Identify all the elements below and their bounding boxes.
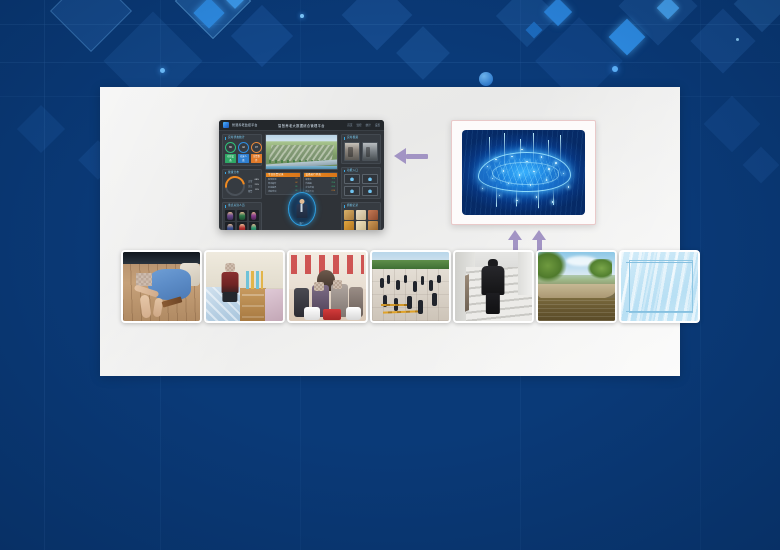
kpi-card: 实时状态统计 86 在线设备 42 在床人数 07 (222, 134, 262, 166)
device-value: 256 (332, 182, 335, 185)
health-donut-chart (221, 172, 249, 200)
function-icons-heading: 功能入口 (344, 170, 378, 173)
watchlist-person-thumb[interactable] (225, 210, 235, 221)
device-value: 094 (332, 186, 335, 189)
donut-legend-value-2: 11% (255, 189, 259, 193)
dashboard-menu-item-0[interactable]: 首页 (347, 123, 352, 127)
kpi-gauge-2-value: 07 (251, 142, 262, 153)
watchlist-person-thumb[interactable] (237, 222, 247, 230)
watchlist-grid (225, 210, 259, 230)
content-panel: 智慧养老监控平台 智慧养老大数据综合管理平台 首页 监控 统计 设置 实时状态统… (100, 87, 680, 376)
photo-fall-detection[interactable]: Caregiver assisting person who fell on f… (121, 250, 202, 323)
snapshot-card: 抓拍记录 (341, 202, 381, 230)
kpi-gauge-0-value: 86 (225, 142, 236, 153)
dashboard-titlebar: 智慧养老监控平台 智慧养老大数据综合管理平台 首页 监控 统计 设置 (219, 120, 384, 131)
health-donut-heading: 健康分布 (225, 172, 259, 175)
snapshot-thumb[interactable] (344, 221, 354, 230)
watchlist-person-thumb[interactable] (249, 210, 259, 221)
table-row: 离床超时02 (268, 182, 298, 185)
avatar-label: 张** (300, 221, 304, 225)
device-label: 传感器 (306, 182, 312, 185)
kpi-gauge-1[interactable]: 42 在床人数 (238, 142, 249, 163)
dashboard-body: 实时状态统计 86 在线设备 42 在床人数 07 (219, 131, 384, 230)
function-icon-grid (344, 174, 378, 196)
snapshot-grid (344, 210, 378, 230)
photo-stairs-walking[interactable]: Man in dark coat descending a staircase (453, 250, 534, 323)
health-donut-card: 健康分布 正常68% 关注21% 预警11% (222, 169, 262, 200)
dashboard-menu-item-2[interactable]: 统计 (366, 123, 371, 127)
dashboard-title: 智慧养老大数据综合管理平台 (278, 123, 325, 128)
function-icon[interactable] (362, 174, 378, 184)
function-icon[interactable] (344, 174, 360, 184)
brain-nodes (462, 130, 585, 215)
campus-3d-scene[interactable]: 园区三维实景 (265, 134, 338, 170)
donut-legend-label-0: 正常 (248, 179, 252, 183)
alert-label: 求助呼叫 (268, 190, 276, 193)
dashboard-menu-item-3[interactable]: 设置 (375, 123, 380, 127)
photo-activity-room[interactable]: Group activity in decorated common room (287, 250, 368, 323)
function-icon[interactable] (362, 186, 378, 196)
dashboard-left-column: 实时状态统计 86 在线设备 42 在床人数 07 (222, 134, 262, 227)
donut-legend-label-1: 关注 (248, 184, 252, 188)
function-icons-card: 功能入口 (341, 167, 381, 200)
watchlist-card: 重点关注人员 (222, 202, 262, 230)
blurred-face (314, 282, 323, 291)
alert-value: 02 (295, 182, 297, 185)
blurred-face (225, 263, 235, 272)
camera-grid (344, 142, 378, 161)
table-row: 跌倒检测03 (268, 178, 298, 181)
camera-heading: 实时视频 (344, 137, 378, 140)
dashboard-center-column: 园区三维实景 今日告警记录 跌倒检测03 离床超时02 区域越界01 求助呼叫0… (265, 134, 338, 227)
dashboard-right-column: 实时视频 功能入口 (341, 134, 381, 227)
table-row: 传感器256 (306, 182, 336, 185)
photo-bedroom-care[interactable]: Elderly man seated on bed in dormitory r… (204, 250, 285, 323)
avatar-area: 张** (265, 197, 338, 227)
watchlist-person-thumb[interactable] (237, 210, 247, 221)
donut-legend-value-1: 21% (255, 184, 259, 188)
dashboard-logo-icon (223, 122, 229, 128)
alert-label: 离床超时 (268, 182, 276, 185)
camera-card: 实时视频 (341, 134, 381, 164)
snapshot-thumb[interactable] (356, 221, 366, 230)
snapshot-thumb[interactable] (368, 221, 378, 230)
dashboard-screenshot[interactable]: 智慧养老监控平台 智慧养老大数据综合管理平台 首页 监控 统计 设置 实时状态统… (219, 120, 384, 230)
snapshot-thumb[interactable] (368, 210, 378, 220)
health-donut-legend: 正常68% 关注21% 预警11% (248, 179, 259, 193)
snapshot-thumb[interactable] (344, 210, 354, 220)
ai-brain-card[interactable] (451, 120, 596, 225)
table-row: 区域越界01 (268, 186, 298, 189)
dashboard-menu-item-1[interactable]: 监控 (356, 123, 361, 127)
avatar-figure-icon (295, 199, 308, 219)
slide-canvas: 智慧养老监控平台 智慧养老大数据综合管理平台 首页 监控 统计 设置 实时状态统… (0, 0, 780, 550)
photo-riverside-park[interactable]: Willow trees beside a park river (536, 250, 617, 323)
device-label: 定位终端 (306, 186, 314, 189)
kpi-gauges: 86 在线设备 42 在床人数 07 告警事件 (225, 142, 259, 163)
health-donut-row: 正常68% 关注21% 预警11% (225, 176, 259, 196)
device-value: 128 (332, 178, 335, 181)
kpi-gauge-1-value: 42 (238, 142, 249, 153)
scene-water (266, 166, 337, 169)
alert-value: 03 (295, 178, 297, 181)
kpi-card-heading: 实时状态统计 (225, 137, 259, 140)
kpi-gauge-0-label: 在线设备 (225, 154, 236, 163)
photo-abstract-blue[interactable]: Light blue abstract texture panel (619, 250, 700, 323)
up-arrow-icon-1 (508, 230, 522, 252)
alert-label: 跌倒检测 (268, 178, 276, 181)
scene-buildings (269, 145, 334, 161)
table-row: 定位终端094 (306, 186, 336, 189)
watchlist-person-thumb[interactable] (249, 222, 259, 230)
dashboard-menu[interactable]: 首页 监控 统计 设置 (347, 123, 380, 127)
device-value: 016 (332, 190, 335, 193)
dashboard-brand: 智慧养老监控平台 (232, 123, 258, 127)
blurred-face (333, 280, 342, 289)
snapshot-thumb[interactable] (356, 210, 366, 220)
left-arrow-icon (394, 148, 428, 164)
kpi-gauge-1-label: 在床人数 (238, 154, 249, 163)
camera-feed[interactable] (344, 142, 360, 161)
watchlist-person-thumb[interactable] (225, 222, 235, 230)
device-label: 摄像头 (306, 178, 312, 181)
table-row: 摄像头128 (306, 178, 336, 181)
snapshot-heading: 抓拍记录 (344, 205, 378, 208)
avatar[interactable]: 张** (288, 192, 316, 226)
donut-legend-value-0: 68% (255, 179, 259, 183)
photo-plaza-crowd[interactable]: People walking across an outdoor plaza (370, 250, 451, 323)
scenario-photo-strip: Caregiver assisting person who fell on f… (121, 250, 700, 323)
ai-brain-image (462, 130, 585, 215)
camera-feed[interactable] (362, 142, 378, 161)
kpi-gauge-2[interactable]: 07 告警事件 (251, 142, 262, 163)
function-icon[interactable] (344, 186, 360, 196)
kpi-gauge-0[interactable]: 86 在线设备 (225, 142, 236, 163)
watchlist-heading: 重点关注人员 (225, 205, 259, 208)
donut-legend-label-2: 预警 (248, 189, 252, 193)
alert-value: 01 (295, 186, 297, 189)
scene-caption: 园区三维实景 (266, 135, 267, 136)
kpi-gauge-2-label: 告警事件 (251, 154, 262, 163)
alert-label: 区域越界 (268, 186, 276, 189)
up-arrow-icon-2 (532, 230, 546, 252)
